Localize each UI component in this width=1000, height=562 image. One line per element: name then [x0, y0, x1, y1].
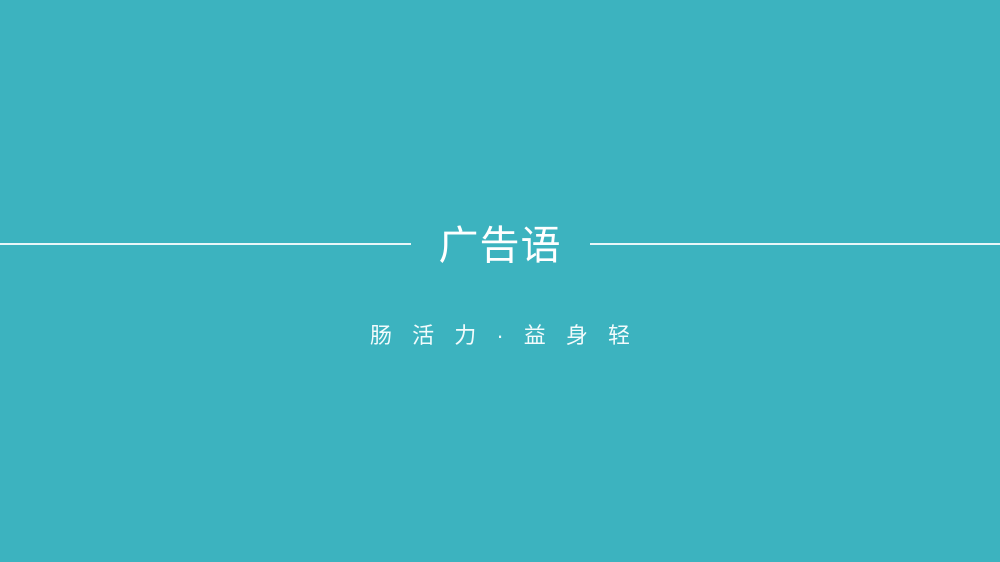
slide-canvas: 广告语 肠 活 力 · 益 身 轻	[0, 0, 1000, 562]
tagline-text: 肠 活 力 · 益 身 轻	[0, 322, 1000, 351]
title-container: 广告语	[411, 224, 590, 264]
divider-line-right	[590, 243, 1000, 245]
page-title: 广告语	[439, 226, 562, 266]
divider-line-left	[0, 243, 411, 245]
